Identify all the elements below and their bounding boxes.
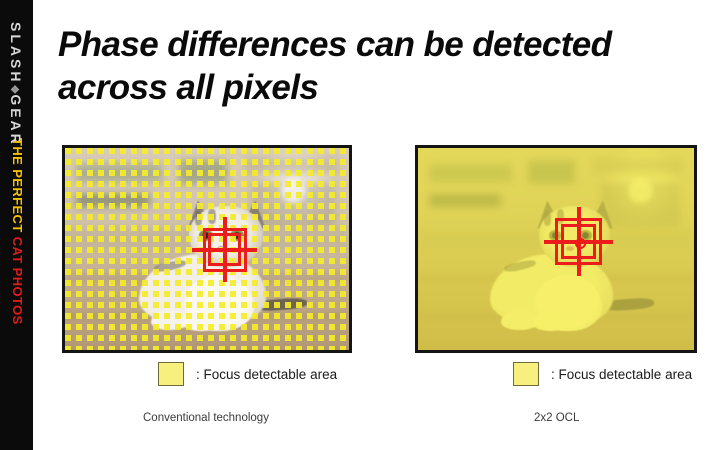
tagline-part1: THE PERFECT xyxy=(10,138,25,237)
legend-conventional: : Focus detectable area xyxy=(158,362,337,386)
slashgear-logo: SLASH❖GEAR xyxy=(8,22,24,147)
photo-left xyxy=(65,148,349,350)
series-tagline: THE PERFECT CAT PHOTOS xyxy=(10,138,25,325)
page-title: Phase differences can be detected across… xyxy=(58,24,708,109)
legend-label: : Focus detectable area xyxy=(196,367,337,382)
photo-panel-conventional xyxy=(62,145,352,353)
reticle-inner-box xyxy=(208,233,240,265)
legend-label: : Focus detectable area xyxy=(551,367,692,382)
page-title-line2: across all pixels xyxy=(58,67,708,110)
caption-conventional: Conventional technology xyxy=(143,412,269,424)
watermark-rail: SLASH❖GEAR THE PERFECT CAT PHOTOS xyxy=(0,0,33,450)
slide-canvas: SLASH❖GEAR THE PERFECT CAT PHOTOS Phase … xyxy=(0,0,720,450)
focus-reticle-left xyxy=(196,221,254,279)
legend-2x2ocl: : Focus detectable area xyxy=(513,362,692,386)
photo-right xyxy=(418,148,694,350)
tagline-part2: CAT PHOTOS xyxy=(10,237,25,325)
watermark-rail-inner: SLASH❖GEAR THE PERFECT CAT PHOTOS xyxy=(0,0,33,450)
brand-part1: SLASH xyxy=(8,22,24,84)
page-title-line1: Phase differences can be detected xyxy=(58,25,611,64)
focus-reticle-right xyxy=(548,211,610,273)
legend-swatch-icon xyxy=(513,362,539,386)
photo-panel-2x2ocl xyxy=(415,145,697,353)
brand-separator-icon: ❖ xyxy=(8,84,20,94)
legend-swatch-icon xyxy=(158,362,184,386)
caption-2x2ocl: 2x2 OCL xyxy=(534,412,579,424)
